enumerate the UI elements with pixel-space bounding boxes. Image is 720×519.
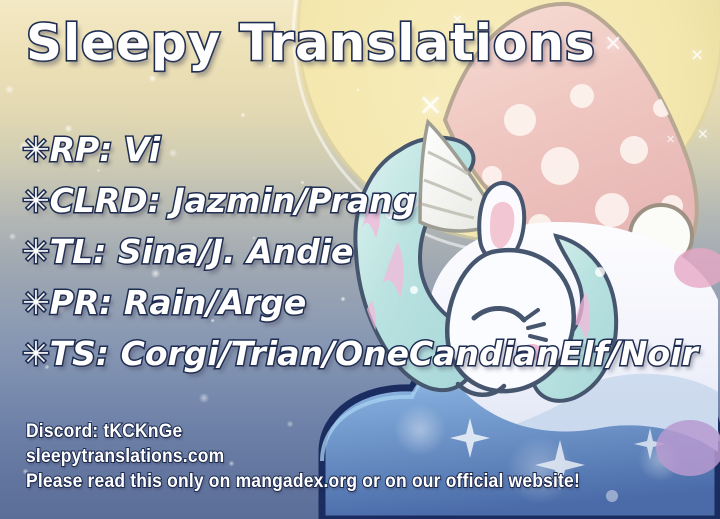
footer-block: Discord: tKCKnGe sleepytranslations.com … [26, 419, 628, 494]
page-title: Sleepy Translations [26, 14, 596, 72]
credit-line-ts: ✳TS: Corgi/Trian/OneCandianElf/Noir [22, 328, 698, 379]
text-layer: Sleepy Translations ✳RP: Vi ✳CLRD: Jazmi… [0, 0, 720, 519]
credit-line-tl: ✳TL: Sina/J. Andie [22, 226, 698, 277]
credit-line-clrd: ✳CLRD: Jazmin/Prang [22, 175, 698, 226]
credits-list: ✳RP: Vi ✳CLRD: Jazmin/Prang ✳TL: Sina/J.… [22, 124, 698, 379]
discord-handle: Discord: tKCKnGe [26, 419, 580, 444]
credit-line-rp: ✳RP: Vi [22, 124, 698, 175]
credits-page: ✕✕✕✕✕✕✕ Sleepy Translations ✳RP: Vi ✳CLR… [0, 0, 720, 519]
credit-line-pr: ✳PR: Rain/Arge [22, 277, 698, 328]
read-notice-text: Please read this only on mangadex.org or… [26, 469, 580, 494]
website-url: sleepytranslations.com [26, 444, 580, 469]
